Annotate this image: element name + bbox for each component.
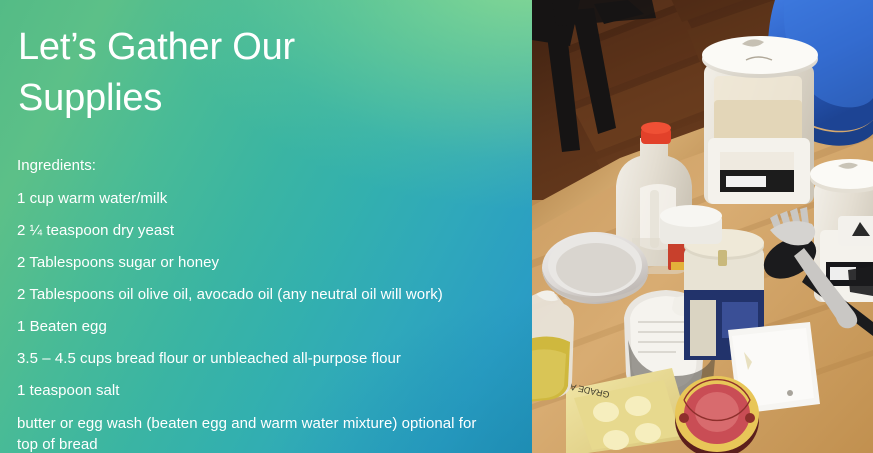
list-item: 2 Tablespoons oil olive oil, avocado oil… [17, 285, 517, 304]
list-item: 2 Tablespoons sugar or honey [17, 253, 517, 272]
list-item: 1 Beaten egg [17, 317, 517, 336]
slide: Let’s Gather Our Supplies Ingredients: 1… [0, 0, 873, 453]
white-dish [838, 216, 873, 246]
list-item: 2 ¼ teaspoon dry yeast [17, 221, 517, 240]
list-item: 3.5 – 4.5 cups bread flour or unbleached… [17, 349, 517, 368]
flour-container [702, 36, 818, 204]
ingredients-list: Ingredients: 1 cup warm water/milk 2 ¼ t… [17, 156, 517, 453]
white-jar-back [660, 205, 722, 244]
black-utensil [848, 266, 873, 296]
supplies-photo-illustration: GRADE A [532, 0, 873, 453]
page-title: Let’s Gather Our Supplies [18, 22, 438, 124]
list-item: 1 teaspoon salt [17, 381, 517, 400]
panel-content: Let’s Gather Our Supplies Ingredients: 1… [0, 0, 532, 453]
ingredients-heading: Ingredients: [17, 156, 517, 175]
list-item: butter or egg wash (beaten egg and warm … [17, 413, 487, 453]
supplies-photo: GRADE A [532, 0, 873, 453]
oil-bottle [532, 290, 574, 402]
list-item: 1 cup warm water/milk [17, 189, 517, 208]
jar-lid [675, 376, 759, 453]
gradient-panel: Let’s Gather Our Supplies Ingredients: 1… [0, 0, 532, 453]
